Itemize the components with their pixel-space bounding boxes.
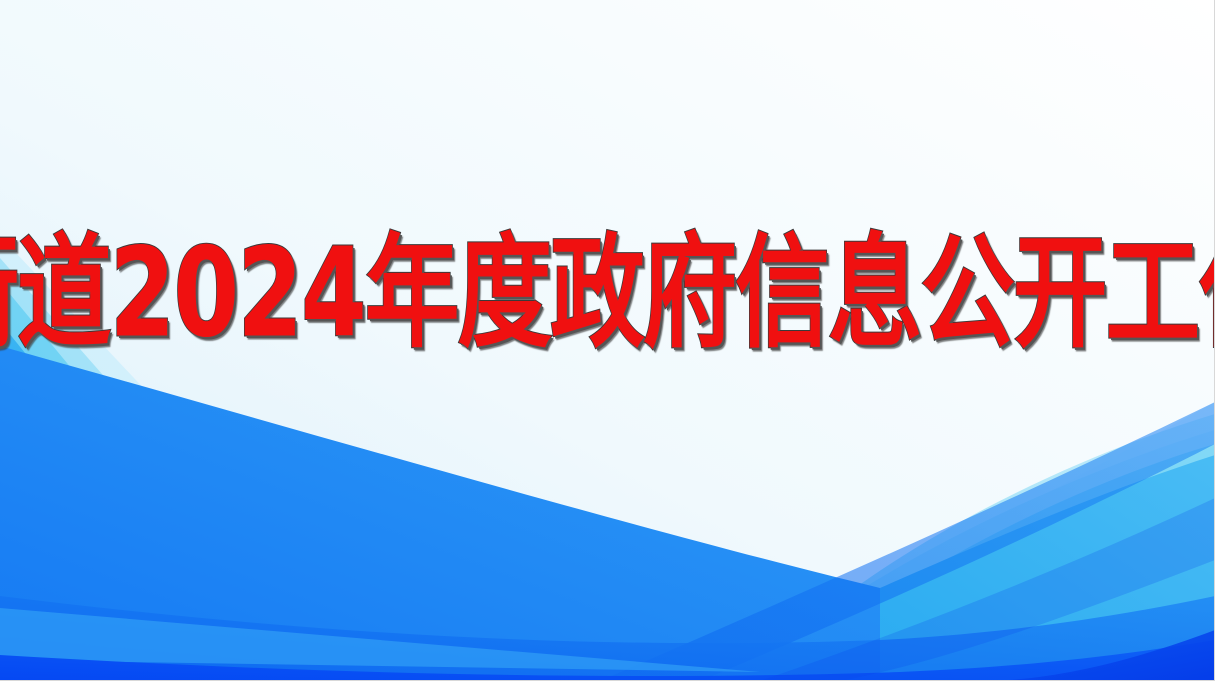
- slide-background-graphic: [0, 0, 1215, 681]
- presentation-slide: 盐仓街道2024年度政府信息公开工作报告: [0, 0, 1215, 681]
